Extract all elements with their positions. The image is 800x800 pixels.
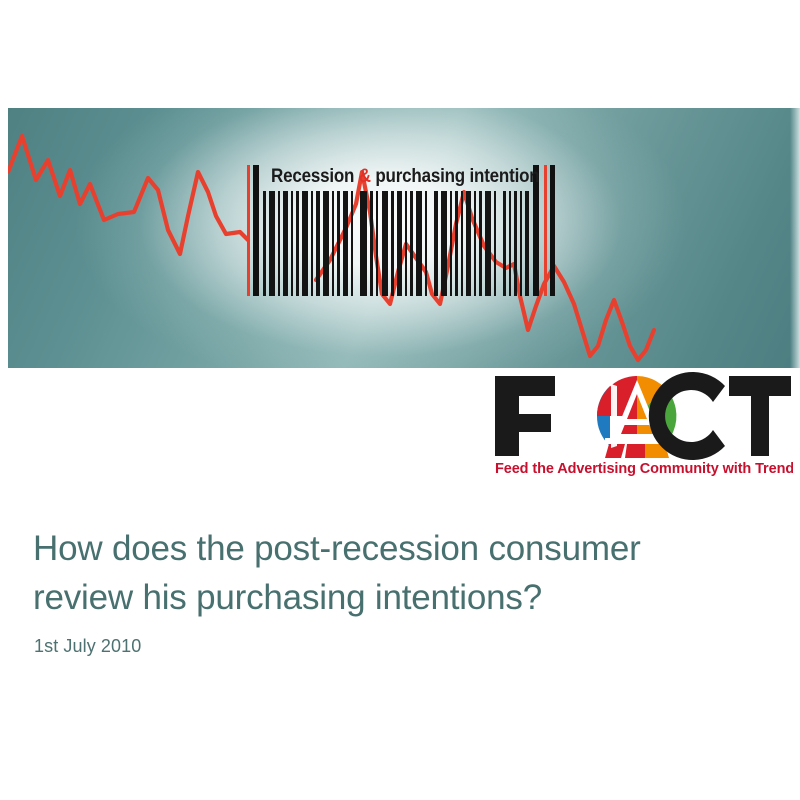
- barcode-title-ampersand: &: [359, 165, 371, 186]
- fact-logo: Feed the Advertising Community with Tren…: [493, 372, 793, 478]
- barcode-title-suffix: purchasing intention: [371, 165, 540, 186]
- barcode-graphic: Recession & purchasing intention: [247, 161, 555, 296]
- logo-letter-f-shape: [495, 376, 555, 456]
- title-block: How does the post-recession consumerrevi…: [33, 524, 763, 657]
- barcode-title-text: Recession & purchasing intention: [271, 162, 539, 191]
- slide-canvas: Recession & purchasing intention: [0, 0, 800, 800]
- banner-right-edge-highlight: [790, 108, 800, 368]
- page-title: How does the post-recession consumerrevi…: [33, 524, 763, 622]
- presentation-date: 1st July 2010: [34, 636, 763, 657]
- trend-line-left-segment: [8, 136, 248, 254]
- fact-logo-graphic: Feed the Advertising Community with Tren…: [493, 372, 793, 478]
- logo-letter-t-shape: [729, 376, 791, 456]
- logo-tagline-text: Feed the Advertising Community with Tren…: [495, 461, 793, 477]
- page-title-line-2: review his purchasing intentions?: [33, 578, 542, 617]
- barcode-title-prefix: Recession: [271, 165, 359, 186]
- page-title-line-1: How does the post-recession consumer: [33, 529, 641, 568]
